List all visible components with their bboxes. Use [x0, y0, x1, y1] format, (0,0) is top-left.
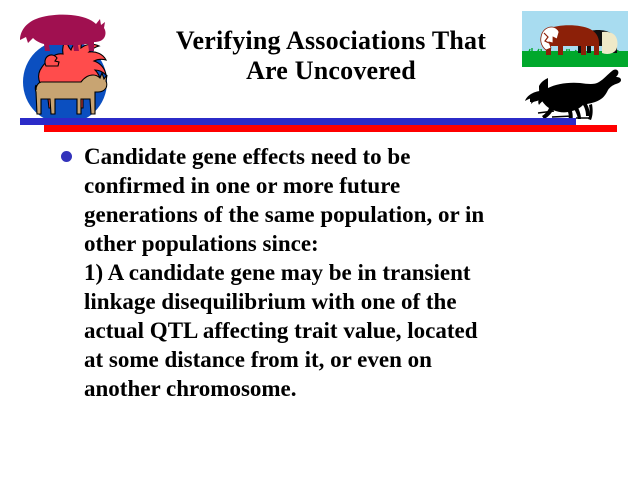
- page-title-line-1: Verifying Associations That: [140, 26, 522, 56]
- paragraph-item: 1) A candidate gene may be in transient …: [58, 258, 598, 403]
- galloping-horse-silhouette: [518, 68, 638, 123]
- page-title-line-2: Are Uncovered: [140, 56, 522, 86]
- bullet-line: generations of the same population, or i…: [84, 200, 598, 229]
- cattle-pasture-photo: [522, 11, 628, 67]
- paragraph-line: another chromosome.: [84, 374, 598, 403]
- paragraph-line: at some distance from it, or even on: [84, 345, 598, 374]
- slide-body: Candidate gene effects need to be confir…: [58, 142, 598, 403]
- slide-canvas: Verifying Associations That Are Uncovere…: [0, 0, 640, 480]
- divider-bar-red: [44, 125, 617, 132]
- bullet-disc-icon: [61, 151, 72, 162]
- horse-icon: [525, 70, 621, 124]
- bullet-line: confirmed in one or more future: [84, 171, 598, 200]
- bullet-line: Candidate gene effects need to be: [84, 142, 598, 171]
- page-title: Verifying Associations That Are Uncovere…: [140, 26, 522, 86]
- bullet-line: other populations since:: [84, 229, 598, 258]
- divider-bar-blue: [20, 118, 576, 125]
- livestock-logo: [6, 4, 124, 126]
- paragraph-line: 1) A candidate gene may be in transient: [84, 258, 598, 287]
- paragraph-line: linkage disequilibrium with one of the: [84, 287, 598, 316]
- bullet-item: Candidate gene effects need to be confir…: [58, 142, 598, 258]
- paragraph-line: actual QTL affecting trait value, locate…: [84, 316, 598, 345]
